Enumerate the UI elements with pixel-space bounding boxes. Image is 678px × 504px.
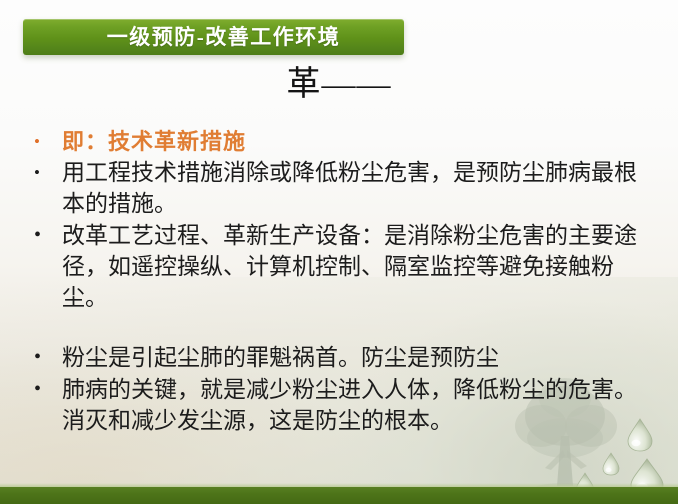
bullet-marker: • <box>26 342 62 372</box>
bullet-text: 肺病的关键，就是减少粉尘进入人体，降低粉尘的危害。消灭和减少发尘源，这是防尘的根… <box>62 374 638 436</box>
bullet-item: • 用工程技术措施消除或降低粉尘危害，是预防尘肺病最根本的措施。 <box>26 157 638 219</box>
bullet-text: 即：技术革新措施 <box>62 128 638 156</box>
slide-canvas: 一级预防-改善工作环境 革—— • 即：技术革新措施 • 用工程技术措施消除或降… <box>0 0 678 504</box>
bullet-text: 改革工艺过程、革新生产设备：是消除粉尘危害的主要途径，如遥控操纵、计算机控制、隔… <box>62 220 638 313</box>
banner-title: 一级预防-改善工作环境 <box>81 27 347 48</box>
bullet-marker: • <box>26 157 62 188</box>
grass-strip <box>0 487 678 504</box>
bullet-marker: • <box>26 374 62 404</box>
bullet-marker: • <box>26 128 62 156</box>
bullet-list: • 即：技术革新措施 • 用工程技术措施消除或降低粉尘危害，是预防尘肺病最根本的… <box>26 128 638 437</box>
bullet-item: • 粉尘是引起尘肺的罪魁祸首。防尘是预防尘 <box>26 342 638 373</box>
bullet-item: • 肺病的关键，就是减少粉尘进入人体，降低粉尘的危害。消灭和减少发尘源，这是防尘… <box>26 374 638 436</box>
bullet-item: • 改革工艺过程、革新生产设备：是消除粉尘危害的主要途径，如遥控操纵、计算机控制… <box>26 220 638 313</box>
bullet-spacer <box>26 314 638 342</box>
bullet-text: 用工程技术措施消除或降低粉尘危害，是预防尘肺病最根本的措施。 <box>62 157 638 219</box>
bullet-item: • 即：技术革新措施 <box>26 128 638 156</box>
headline-text: 革—— <box>0 66 678 103</box>
bullet-marker: • <box>26 220 62 250</box>
header-banner: 一级预防-改善工作环境 <box>23 19 404 55</box>
bullet-text: 粉尘是引起尘肺的罪魁祸首。防尘是预防尘 <box>62 342 638 373</box>
